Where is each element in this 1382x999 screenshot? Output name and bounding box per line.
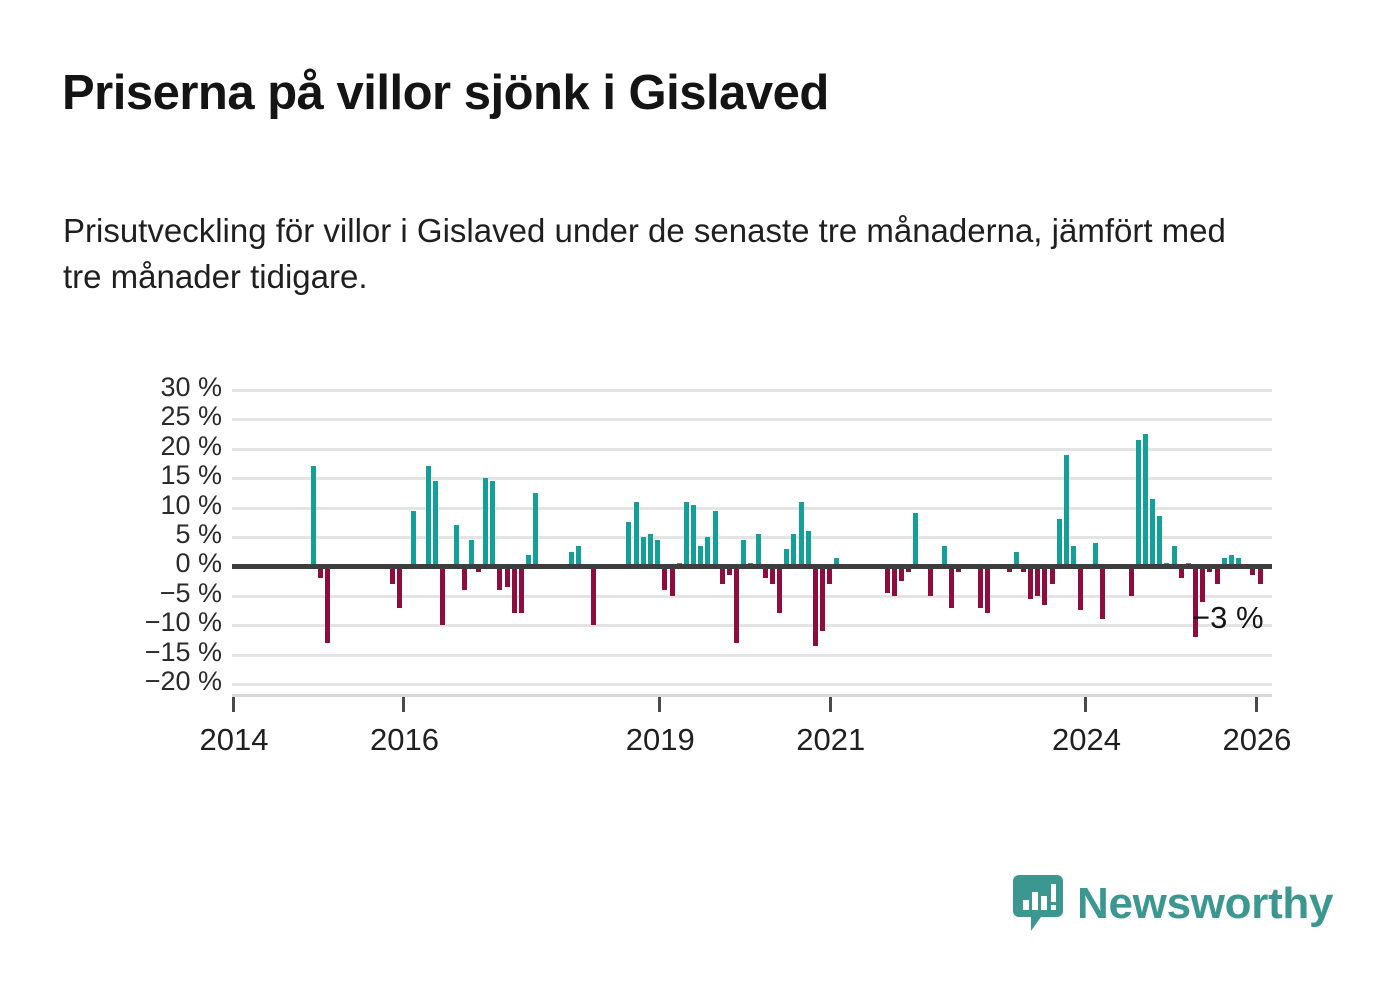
plot-area (232, 390, 1272, 684)
bar (1057, 519, 1062, 566)
bar (483, 478, 488, 566)
y-axis-tick-label: −15 % (72, 637, 222, 668)
bar (1064, 455, 1069, 567)
bar (634, 502, 639, 567)
bar (1200, 566, 1205, 601)
y-axis-tick-label: 5 % (72, 519, 222, 550)
bar (1143, 434, 1148, 566)
y-axis-tick-label: −20 % (72, 666, 222, 697)
bar (426, 466, 431, 566)
y-axis-tick-label: 20 % (72, 431, 222, 462)
bar (655, 540, 660, 566)
bar (1172, 546, 1177, 567)
bar (497, 566, 502, 590)
y-axis-tick-label: −10 % (72, 607, 222, 638)
bar (799, 502, 804, 567)
bar (433, 481, 438, 566)
bar (928, 566, 933, 595)
bar (519, 566, 524, 613)
bar (691, 505, 696, 567)
bar (978, 566, 983, 607)
bar (885, 566, 890, 592)
bar (591, 566, 596, 625)
bar (397, 566, 402, 607)
bar (1136, 440, 1141, 566)
bar (454, 525, 459, 566)
y-axis-tick-label: 10 % (72, 490, 222, 521)
zero-line (232, 564, 1272, 569)
x-axis-tick-label: 2024 (1052, 722, 1121, 758)
x-axis-tick-label: 2016 (370, 722, 439, 758)
bar (626, 522, 631, 566)
bar-chart-speech-bubble-icon (1013, 875, 1063, 933)
last-value-annotation: −3 % (1192, 600, 1264, 636)
bar-series (232, 390, 1272, 684)
y-axis-tick-label: −5 % (72, 578, 222, 609)
y-axis-tick-label: 0 % (72, 548, 222, 579)
x-axis-tick-label: 2014 (200, 722, 269, 758)
x-axis-tick-mark (658, 697, 661, 712)
bar (1078, 566, 1083, 610)
bar-chart: 30 %25 %20 %15 %10 %5 %0 %−5 %−10 %−15 %… (0, 0, 1382, 999)
x-axis-tick-label: 2026 (1222, 722, 1291, 758)
bar (791, 534, 796, 566)
bar (1028, 566, 1033, 598)
bar (942, 546, 947, 567)
x-axis-tick-mark (232, 697, 235, 712)
logo-wordmark: Newsworthy (1077, 882, 1333, 926)
bar (325, 566, 330, 642)
bar (741, 540, 746, 566)
bar (684, 502, 689, 567)
bar (490, 481, 495, 566)
bar (533, 493, 538, 567)
bar (462, 566, 467, 590)
bar (913, 513, 918, 566)
bar (1035, 566, 1040, 595)
y-axis-tick-label: 30 % (72, 372, 222, 403)
bar (505, 566, 510, 587)
bar (662, 566, 667, 590)
bar (713, 511, 718, 567)
bar (698, 546, 703, 567)
x-axis-tick-mark (402, 697, 405, 712)
bar (1100, 566, 1105, 619)
bar (820, 566, 825, 631)
bar (411, 511, 416, 567)
bar (670, 566, 675, 595)
bar (648, 534, 653, 566)
bar (756, 534, 761, 566)
bar (705, 537, 710, 566)
bar (813, 566, 818, 645)
bar (985, 566, 990, 613)
newsworthy-logo: Newsworthy (1013, 875, 1333, 933)
y-axis-tick-label: 15 % (72, 460, 222, 491)
x-axis-line (232, 694, 1272, 697)
x-axis-tick-label: 2019 (626, 722, 695, 758)
bar (1129, 566, 1134, 595)
bar (1042, 566, 1047, 604)
bar (777, 566, 782, 613)
bar (892, 566, 897, 595)
bar (311, 466, 316, 566)
bar (1071, 546, 1076, 567)
bar (949, 566, 954, 607)
bar (641, 537, 646, 566)
bar (576, 546, 581, 567)
bar (734, 566, 739, 642)
x-axis-tick-mark (1084, 697, 1087, 712)
bar (1150, 499, 1155, 567)
y-axis-tick-label: 25 % (72, 401, 222, 432)
bar (806, 531, 811, 566)
x-axis-tick-mark (829, 697, 832, 712)
x-axis-tick-mark (1255, 697, 1258, 712)
bar (469, 540, 474, 566)
bar (1093, 543, 1098, 567)
bar (1157, 516, 1162, 566)
bar (440, 566, 445, 625)
x-axis-tick-label: 2021 (796, 722, 865, 758)
bar (512, 566, 517, 613)
